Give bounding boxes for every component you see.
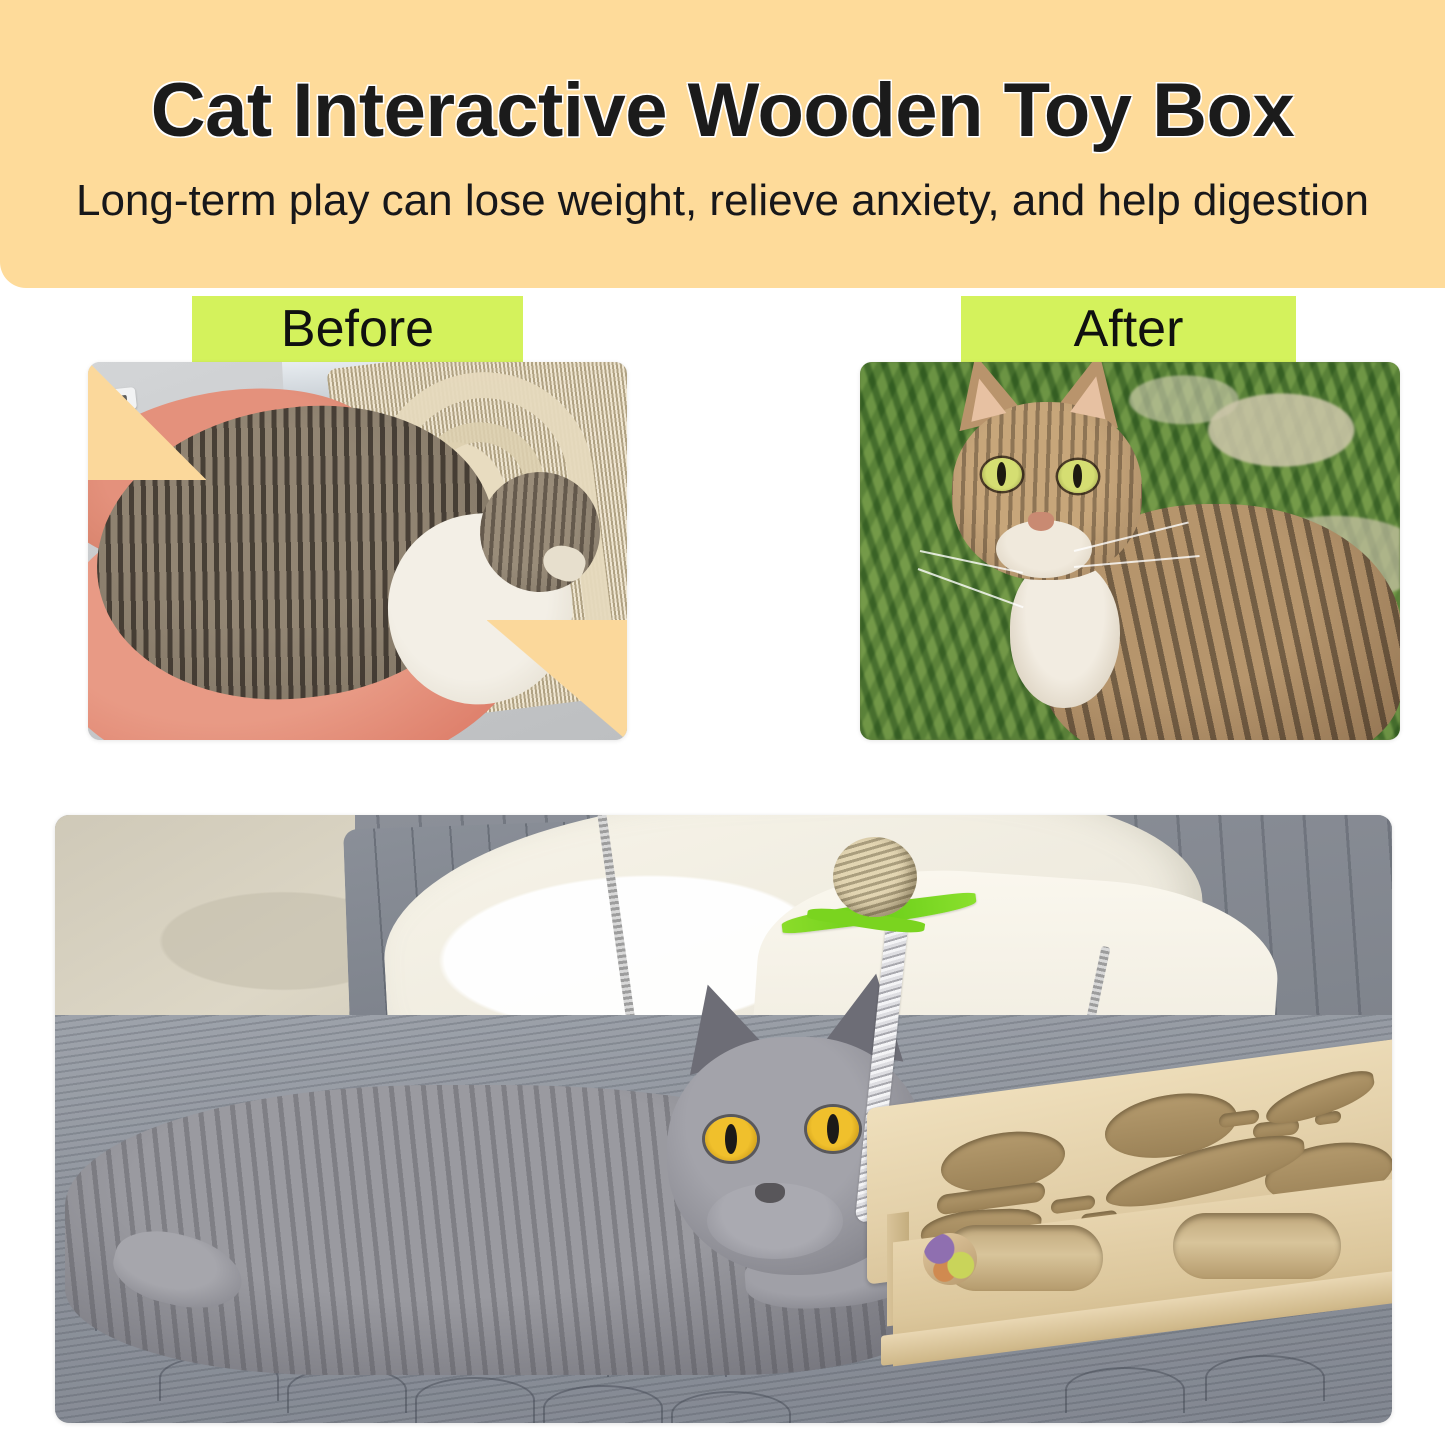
knit-wave <box>1065 1367 1185 1413</box>
before-label-text: Before <box>281 299 434 359</box>
main-photo-scene <box>55 815 1392 1423</box>
after-label-text: After <box>1074 299 1184 359</box>
gray-cat-pupil-right <box>827 1114 839 1144</box>
before-label-chip: Before <box>192 296 523 362</box>
slim-cat-nose <box>1028 512 1054 531</box>
product-infographic: Cat Interactive Wooden Toy Box Long-term… <box>0 0 1445 1433</box>
knit-wave <box>543 1385 663 1423</box>
page-title: Cat Interactive Wooden Toy Box <box>151 71 1294 151</box>
after-photo-scene <box>860 362 1400 740</box>
slim-cat-pupil-right <box>1073 464 1082 488</box>
page-subtitle: Long-term play can lose weight, relieve … <box>76 177 1369 225</box>
sisal-ball <box>833 837 917 917</box>
before-photo <box>88 362 627 740</box>
gray-cat-nose <box>755 1183 785 1203</box>
header-banner: Cat Interactive Wooden Toy Box Long-term… <box>0 0 1445 288</box>
corner-wedge-top-left <box>88 362 206 480</box>
corner-wedge-bottom-right <box>487 620 627 740</box>
toy-box-front-opening <box>1173 1213 1341 1279</box>
slim-cat-pupil-left <box>997 462 1006 486</box>
knit-wave <box>1205 1355 1325 1401</box>
main-product-photo <box>55 815 1392 1423</box>
colorful-mouse-ball <box>923 1233 977 1285</box>
after-label-chip: After <box>961 296 1296 362</box>
slim-cat-chest <box>1010 558 1120 708</box>
knit-wave <box>415 1377 535 1423</box>
after-photo <box>860 362 1400 740</box>
toy-box-slit <box>1051 1195 1095 1215</box>
gray-cat-pupil-left <box>725 1124 737 1154</box>
